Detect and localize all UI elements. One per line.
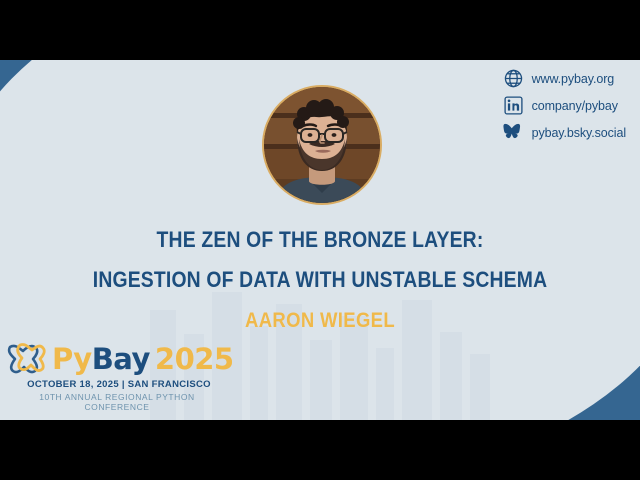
social-link-linkedin-label: company/pybay	[532, 99, 618, 113]
speaker-name: AARON WIEGEL	[38, 300, 601, 342]
pybay-wordmark-bay: Bay	[92, 342, 150, 376]
social-link-bluesky-label: pybay.bsky.social	[532, 126, 626, 140]
pybay-logo-date: OCTOBER 18, 2025 | SAN FRANCISCO	[4, 379, 220, 390]
talk-title-line-1: THE ZEN OF THE BRONZE LAYER:	[38, 220, 601, 260]
social-links: www.pybay.org company/pybay	[503, 66, 626, 145]
video-frame: www.pybay.org company/pybay	[0, 0, 640, 480]
pybay-logo-tagline: 10TH ANNUAL REGIONAL PYTHON CONFERENCE	[4, 392, 220, 412]
speaker-avatar-photo	[264, 87, 380, 203]
pybay-logo-top-row: PyBay2025	[4, 337, 220, 381]
pybay-logo: PyBay2025 OCTOBER 18, 2025 | SAN FRANCIS…	[4, 337, 220, 412]
social-link-linkedin[interactable]: company/pybay	[503, 93, 626, 118]
bluesky-butterfly-icon	[503, 122, 524, 143]
title-block: THE ZEN OF THE BRONZE LAYER: INGESTION O…	[0, 220, 640, 342]
social-link-website[interactable]: www.pybay.org	[503, 66, 626, 91]
social-link-website-label: www.pybay.org	[532, 72, 615, 86]
pybay-wordmark-py: Py	[52, 342, 92, 376]
letterbox-top	[0, 0, 640, 60]
pybay-wordmark: PyBay2025	[52, 337, 234, 381]
conference-slide: www.pybay.org company/pybay	[0, 60, 640, 420]
pybay-wordmark-year: 2025	[155, 342, 234, 376]
linkedin-icon	[503, 95, 524, 116]
social-link-bluesky[interactable]: pybay.bsky.social	[503, 120, 626, 145]
letterbox-bottom	[0, 420, 640, 480]
speaker-avatar	[262, 85, 382, 205]
talk-title-line-2: INGESTION OF DATA WITH UNSTABLE SCHEMA	[38, 260, 601, 300]
globe-icon	[503, 68, 524, 89]
pybay-starfish-mark	[4, 336, 54, 382]
